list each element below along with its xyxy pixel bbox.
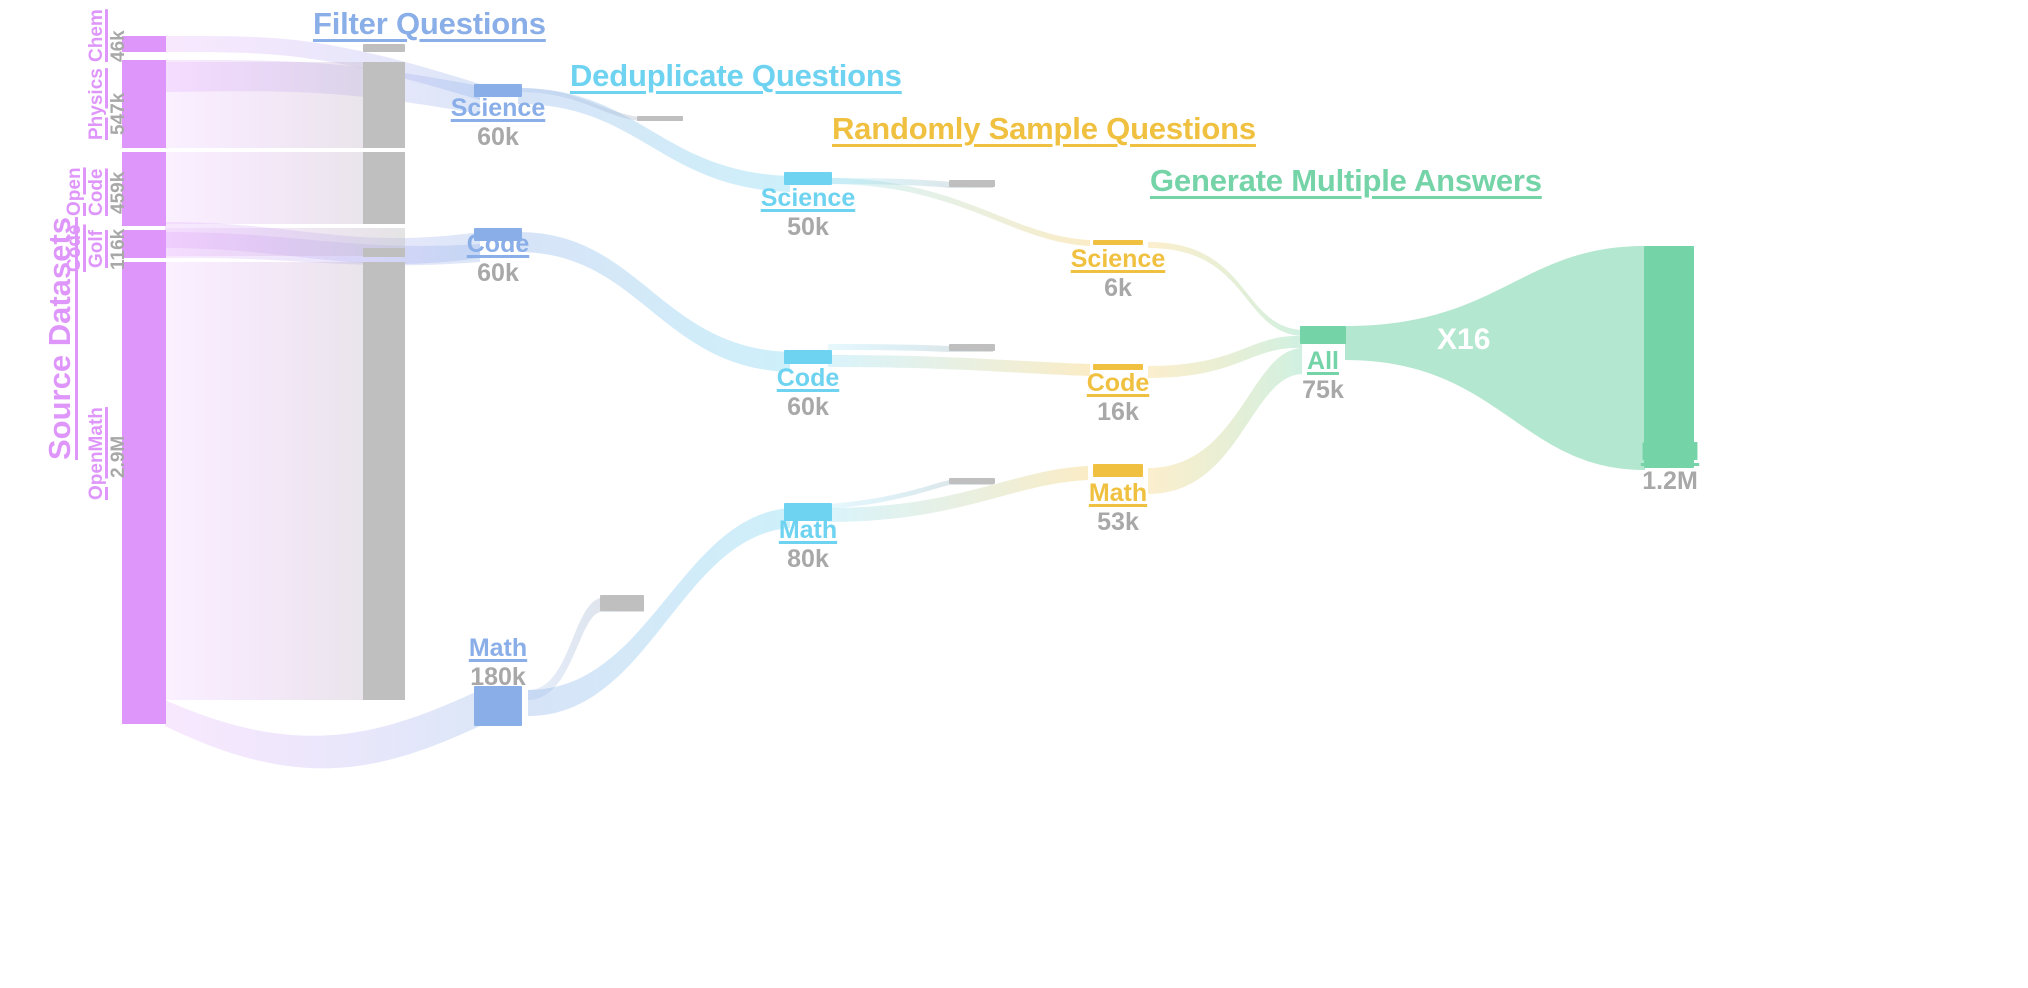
filter-label-math-value: 180k	[398, 665, 598, 691]
sample-label-science-name: Science	[1018, 247, 1218, 273]
stage-title-sample: Randomly Sample Questions	[832, 111, 1256, 147]
source-label-opencode: Open	[64, 167, 86, 216]
source-value-openmath: 2.9M	[108, 436, 130, 478]
source-label-openmath-name: OpenMath	[86, 407, 107, 500]
sample-label-math: Math 53k	[1018, 481, 1218, 535]
sample-label-science-value: 6k	[1018, 276, 1218, 302]
discard-node-code-sample	[949, 344, 995, 351]
filter-label-math: Math 180k	[398, 636, 598, 690]
sample-node-math[interactable]	[1093, 464, 1143, 477]
flow-openmath-to-math	[165, 690, 480, 768]
filter-label-code-name: Code	[398, 232, 598, 258]
source-label-codegolf-2: Golf	[86, 230, 108, 268]
source-value-codegolf: 116k	[108, 229, 130, 270]
filter-label-math-name: Math	[398, 636, 598, 662]
dedupe-label-math-value: 80k	[708, 547, 908, 573]
source-label-opencode-name: Open	[64, 167, 85, 216]
discard-node-opencode-filter	[363, 152, 405, 224]
source-label-physics: Physics	[86, 68, 108, 140]
source-value-physics: 547k	[108, 93, 130, 135]
discard-node-openmath-filter	[363, 262, 405, 700]
discard-node-science-dedupe	[637, 116, 683, 121]
source-value-physics-text: 547k	[108, 93, 129, 135]
source-label-codegolf: Code	[64, 225, 86, 273]
discard-nodes-dedupe	[600, 116, 683, 611]
generate-label-final: Final 1.2M	[1570, 440, 1770, 494]
discard-node-science-filter	[363, 44, 405, 52]
generate-label-all: All 75k	[1223, 349, 1423, 403]
source-label-codegolf-name2: Golf	[86, 230, 107, 268]
source-label-opencode-2: Code	[86, 169, 108, 217]
stage-title-generate: Generate Multiple Answers	[1150, 163, 1542, 199]
dedupe-label-code-value: 60k	[708, 395, 908, 421]
source-value-opencode-text: 459k	[108, 172, 129, 214]
source-value-openmath-text: 2.9M	[108, 436, 129, 478]
stage-title-dedupe: Deduplicate Questions	[570, 58, 902, 94]
sample-label-code: Code 16k	[1018, 371, 1218, 425]
filter-label-code-value: 60k	[398, 261, 598, 287]
discard-node-math-sample	[949, 478, 995, 484]
filter-node-bars	[474, 84, 522, 726]
source-value-chem-text: 46k	[108, 30, 129, 62]
sankey-diagram: Source Datasets Chem 46k Physics 547k Op…	[0, 0, 2028, 988]
source-value-chem: 46k	[108, 30, 130, 62]
generate-label-all-value: 75k	[1223, 378, 1423, 404]
dedupe-label-science: Science 50k	[708, 186, 908, 240]
source-label-openmath: OpenMath	[86, 407, 108, 500]
source-label-opencode-name2: Code	[86, 169, 107, 217]
source-value-opencode: 459k	[108, 172, 130, 214]
filter-label-science-name: Science	[398, 96, 598, 122]
filter-node-math[interactable]	[474, 686, 522, 726]
source-label-physics-name: Physics	[86, 68, 107, 140]
dedupe-label-code: Code 60k	[708, 366, 908, 420]
filter-label-science: Science 60k	[398, 96, 598, 150]
discard-node-science-sample	[949, 180, 995, 187]
source-label-chem: Chem	[86, 9, 108, 62]
sample-label-science: Science 6k	[1018, 247, 1218, 301]
source-node-openmath[interactable]	[122, 262, 166, 724]
sample-label-math-name: Math	[1018, 481, 1218, 507]
dedupe-label-code-name: Code	[708, 366, 908, 392]
flow-label-multiplier: X16	[1437, 323, 1490, 357]
generate-node-all[interactable]	[1300, 326, 1346, 344]
sample-label-code-value: 16k	[1018, 400, 1218, 426]
source-node-bars	[122, 36, 166, 724]
dedupe-label-science-name: Science	[708, 186, 908, 212]
stage-title-filter: Filter Questions	[313, 6, 546, 42]
generate-label-final-name: Final	[1570, 440, 1770, 466]
generate-label-all-name: All	[1223, 349, 1423, 375]
sankey-canvas	[0, 0, 2028, 988]
generate-node-final[interactable]	[1644, 246, 1694, 468]
dedupe-node-code[interactable]	[784, 350, 832, 364]
dedupe-label-science-value: 50k	[708, 215, 908, 241]
sample-label-math-value: 53k	[1018, 510, 1218, 536]
dedupe-label-math: Math 80k	[708, 518, 908, 572]
dedupe-label-math-name: Math	[708, 518, 908, 544]
source-label-chem-name: Chem	[86, 9, 107, 62]
discard-node-math-dedupe	[600, 595, 644, 611]
generate-label-final-value: 1.2M	[1570, 469, 1770, 495]
discard-nodes-sample	[949, 180, 995, 484]
sample-label-code-name: Code	[1018, 371, 1218, 397]
filter-label-science-value: 60k	[398, 125, 598, 151]
source-value-codegolf-text: 116k	[108, 229, 129, 270]
filter-label-code: Code 60k	[398, 232, 598, 286]
source-label-codegolf-name: Code	[64, 225, 85, 273]
